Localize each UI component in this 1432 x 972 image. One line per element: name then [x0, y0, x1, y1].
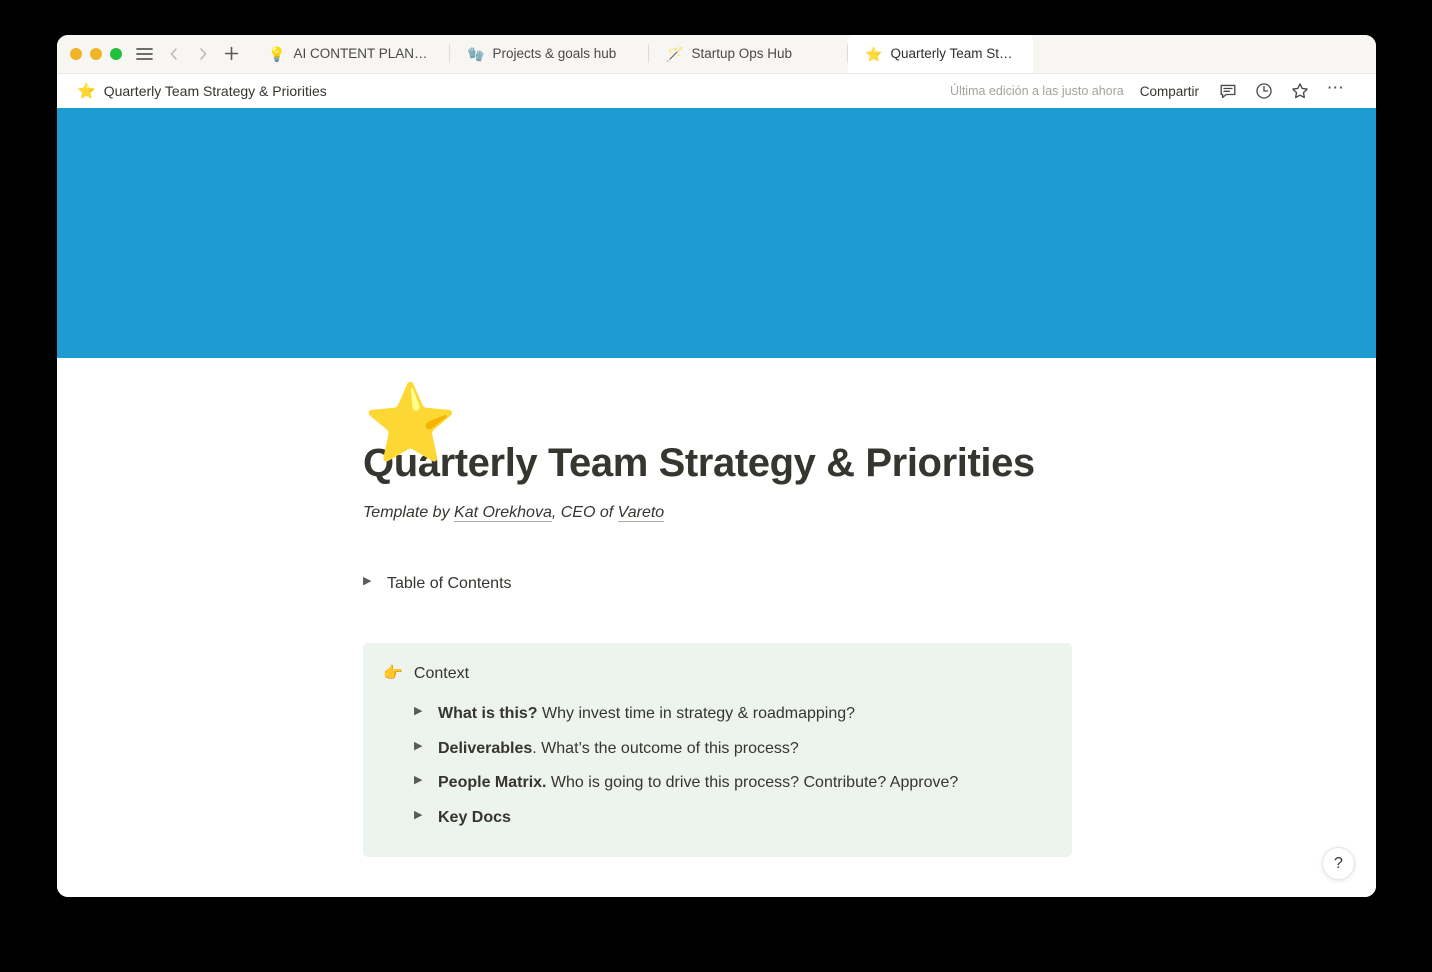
toggle-key-docs[interactable]: ▶ Key Docs	[414, 801, 1052, 836]
magic-wand-icon: 🪄	[666, 47, 683, 61]
byline-middle: , CEO of	[552, 504, 618, 521]
byline: Template by Kat Orekhova, CEO of Vareto	[363, 501, 1316, 525]
toggle-rest-label: Why invest time in strategy & roadmappin…	[538, 705, 855, 722]
more-options-icon[interactable]: ⋯	[1323, 78, 1349, 104]
chevron-right-icon[interactable]: ▶	[414, 706, 428, 717]
chevron-right-icon[interactable]: ▶	[414, 741, 428, 752]
author-link[interactable]: Kat Orekhova	[454, 504, 552, 522]
tab-list: 💡 AI CONTENT PLANNI… 🧤 Projects & goals …	[251, 35, 1376, 73]
share-button[interactable]: Compartir	[1134, 84, 1205, 99]
document-toolbar: ⭐ Quarterly Team Strategy & Priorities Ú…	[57, 74, 1376, 108]
toggle-deliverables[interactable]: ▶ Deliverables. What’s the outcome of th…	[414, 732, 1052, 767]
last-edited-status: Última edición a las justo ahora	[950, 84, 1124, 98]
chevron-right-icon[interactable]: ▶	[414, 775, 428, 786]
screen: 💡 AI CONTENT PLANNI… 🧤 Projects & goals …	[0, 0, 1432, 972]
tab-label: Projects & goals hub	[492, 46, 616, 61]
company-link[interactable]: Vareto	[618, 504, 665, 522]
help-button[interactable]: ?	[1322, 847, 1355, 880]
comment-icon[interactable]	[1215, 78, 1241, 104]
toggle-text: People Matrix. Who is going to drive thi…	[438, 771, 958, 796]
toggle-rest-label: . What’s the outcome of this process?	[532, 740, 799, 757]
toggle-bold-label: What is this?	[438, 705, 538, 722]
lightbulb-icon: 💡	[268, 47, 285, 61]
page-title[interactable]: Quarterly Team Strategy & Priorities	[363, 439, 1316, 487]
toggle-what-is-this[interactable]: ▶ What is this? Why invest time in strat…	[414, 697, 1052, 732]
new-tab-button[interactable]	[218, 40, 245, 67]
toggle-bold-label: People Matrix.	[438, 774, 546, 791]
page-icon[interactable]: ⭐	[363, 386, 445, 468]
chevron-right-icon[interactable]: ▶	[363, 576, 377, 587]
toggle-text: Key Docs	[438, 806, 511, 831]
byline-prefix: Template by	[363, 504, 454, 521]
back-button[interactable]	[160, 40, 187, 67]
callout-title: Context	[414, 662, 469, 686]
tab-label: Startup Ops Hub	[691, 46, 792, 61]
pointing-hand-icon: 👉	[383, 662, 403, 685]
sidebar-menu-icon[interactable]	[131, 40, 158, 67]
table-of-contents-label: Table of Contents	[387, 572, 512, 597]
breadcrumb[interactable]: ⭐ Quarterly Team Strategy & Priorities	[77, 83, 327, 99]
toggle-rest-label: Who is going to drive this process? Cont…	[546, 774, 958, 791]
history-clock-icon[interactable]	[1251, 78, 1277, 104]
callout-toggle-list: ▶ What is this? Why invest time in strat…	[383, 697, 1052, 836]
compass-icon: 🧤	[467, 47, 484, 61]
close-window-button[interactable]	[70, 48, 82, 60]
toggle-text: Deliverables. What’s the outcome of this…	[438, 737, 799, 762]
forward-button[interactable]	[189, 40, 216, 67]
cover-image[interactable]	[57, 108, 1376, 358]
tab-quarterly-team-strategy[interactable]: ⭐ Quarterly Team Strat…	[848, 35, 1033, 73]
callout-header: 👉 Context	[383, 662, 1052, 686]
window-controls	[57, 35, 131, 73]
tab-startup-ops-hub[interactable]: 🪄 Startup Ops Hub	[649, 35, 848, 73]
document-body: ⭐ Quarterly Team Strategy & Priorities T…	[57, 439, 1376, 897]
tab-label: AI CONTENT PLANNI…	[293, 46, 433, 61]
minimize-window-button[interactable]	[90, 48, 102, 60]
tab-ai-content-planning[interactable]: 💡 AI CONTENT PLANNI…	[251, 35, 450, 73]
tab-projects-goals-hub[interactable]: 🧤 Projects & goals hub	[450, 35, 649, 73]
context-callout: 👉 Context ▶ What is this? Why invest tim…	[363, 643, 1072, 857]
toggle-people-matrix[interactable]: ▶ People Matrix. Who is going to drive t…	[414, 766, 1052, 801]
toggle-bold-label: Deliverables	[438, 740, 532, 757]
document-page: ⭐ Quarterly Team Strategy & Priorities T…	[57, 108, 1376, 897]
star-icon: ⭐	[77, 84, 96, 99]
chevron-right-icon[interactable]: ▶	[414, 810, 428, 821]
toggle-bold-label: Key Docs	[438, 809, 511, 826]
breadcrumb-label: Quarterly Team Strategy & Priorities	[104, 83, 327, 99]
tab-label: Quarterly Team Strat…	[890, 46, 1016, 61]
maximize-window-button[interactable]	[110, 48, 122, 60]
table-of-contents-toggle[interactable]: ▶ Table of Contents	[363, 572, 1316, 597]
navigation-controls	[131, 35, 251, 73]
star-icon: ⭐	[865, 47, 882, 61]
tab-strip: 💡 AI CONTENT PLANNI… 🧤 Projects & goals …	[57, 35, 1376, 74]
browser-window: 💡 AI CONTENT PLANNI… 🧤 Projects & goals …	[57, 35, 1376, 897]
toggle-text: What is this? Why invest time in strateg…	[438, 702, 855, 727]
favorite-star-icon[interactable]	[1287, 78, 1313, 104]
